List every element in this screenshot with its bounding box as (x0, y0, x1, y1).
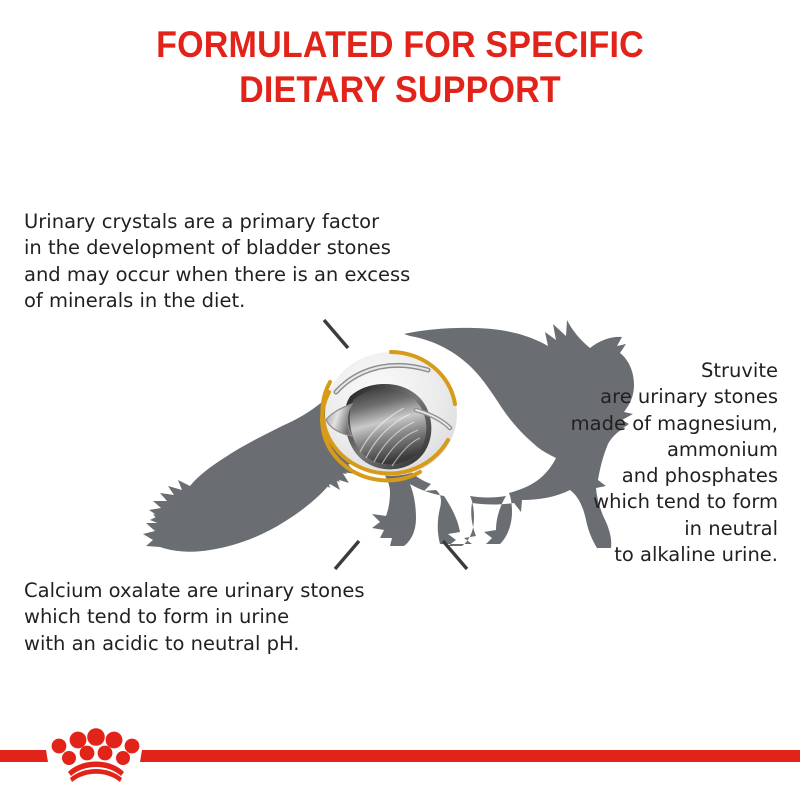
page-title-line-2: DIETARY SUPPORT (32, 67, 768, 112)
page-title: FORMULATED FOR SPECIFIC DIETARY SUPPORT (32, 22, 768, 112)
callout-urinary-crystals: Urinary crystals are a primary factor in… (24, 209, 454, 314)
poster-canvas: FORMULATED FOR SPECIFIC DIETARY SUPPORT (0, 0, 800, 800)
magnifier-ring-arc-bottom (322, 392, 420, 480)
footer-rule-right (140, 750, 800, 762)
footer-rule-left (0, 750, 48, 762)
callout-struvite: Struvite are urinary stones made of magn… (518, 358, 778, 568)
callout-calcium-oxalate: Calcium oxalate are urinary stones which… (24, 578, 454, 657)
magnifier-ring-arc-top (391, 352, 455, 404)
connector-crystals-diagonal (324, 320, 348, 348)
bladder-magnifier (322, 352, 457, 480)
connector-oxalate-diagonal (335, 541, 359, 569)
magnifier-ring-arc-left (322, 382, 448, 474)
royal-canin-crown-logo (52, 728, 140, 782)
footer-brand-bar (0, 700, 800, 800)
page-title-line-1: FORMULATED FOR SPECIFIC (32, 22, 768, 67)
connector-struvite-diagonal (443, 541, 467, 569)
